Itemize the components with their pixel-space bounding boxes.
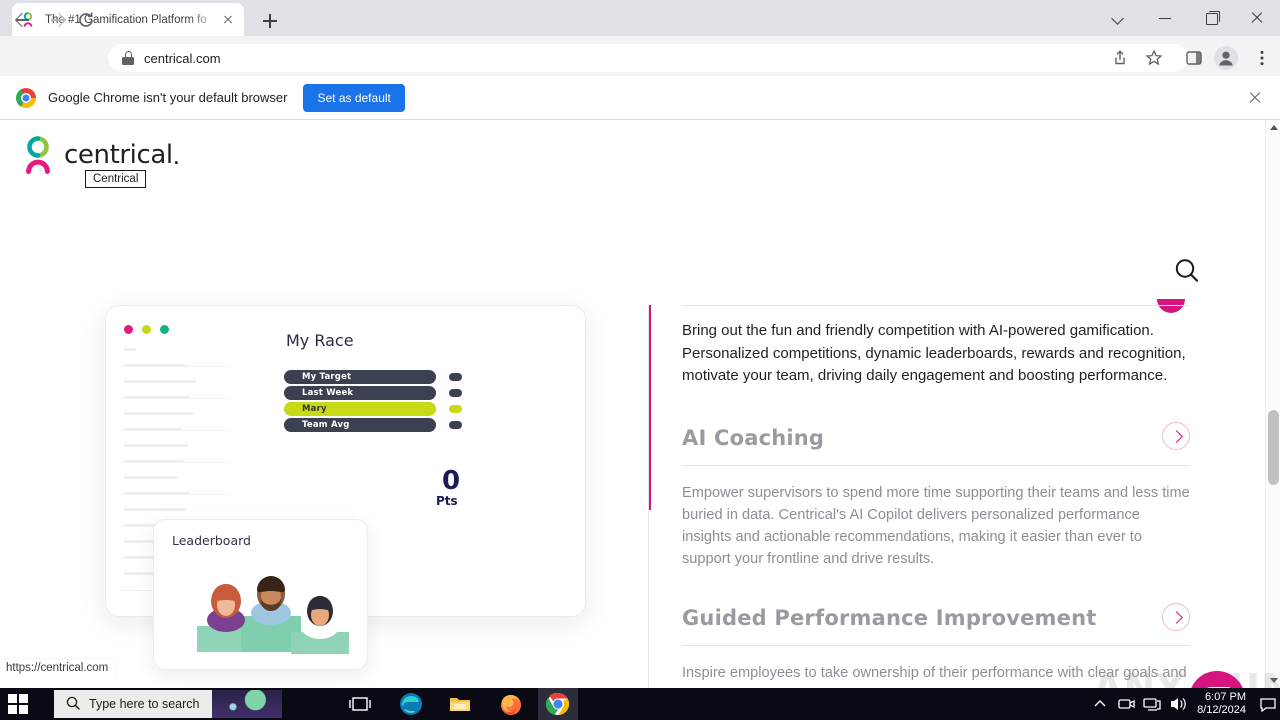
chrome-icon[interactable] [546,692,570,716]
leaderboard-podium-illustration [179,568,369,658]
search-input[interactable]: Type here to search [54,690,282,718]
address-bar[interactable]: centrical.com [108,44,1188,72]
race-bar-label: My Target [302,372,351,382]
search-icon [66,696,80,713]
lock-icon [122,51,134,65]
tab-strip: The #1 Gamification Platform fo [0,0,1280,36]
chrome-logo-icon [16,88,36,108]
race-bar-marker [449,405,462,413]
page-scrollbar[interactable] [1265,120,1280,688]
section-title: Guided Performance Improvement [682,606,1190,630]
close-icon[interactable] [220,12,236,28]
notifications-icon[interactable] [1256,688,1280,720]
link-status-bubble: https://centrical.com [0,660,116,680]
url-text: centrical.com [144,51,221,66]
race-bar-label: Team Avg [302,420,350,430]
chevron-right-icon[interactable] [1162,422,1190,450]
camera-icon[interactable] [1113,688,1139,720]
window-controls [1096,0,1280,36]
mock-window-dots [124,325,169,334]
system-tray: 6:07 PM 8/12/2024 [1087,688,1280,720]
minimize-icon[interactable] [1142,0,1188,36]
close-window-icon[interactable] [1234,0,1280,36]
page-main: My Race My Target Last Week Mary [0,186,1265,688]
race-bar-row: My Target [284,370,444,384]
logo-text: centrical [64,140,173,170]
race-bar-row: Last Week [284,386,444,400]
section-title: AI Coaching [682,426,1190,450]
side-panel-icon[interactable] [1178,42,1210,74]
edge-icon[interactable] [399,692,423,716]
logo-dot: . [173,140,180,171]
chevron-right-icon[interactable] [1162,603,1190,631]
points-label: Pts [436,494,458,508]
share-icon[interactable] [1104,42,1136,74]
show-hidden-icons-chevron[interactable] [1087,688,1113,720]
section-body: Empower supervisors to spend more time s… [682,482,1190,570]
logo-tooltip: Centrical [85,170,146,188]
site-header: centrical . [0,120,1265,186]
menu-kebab-icon[interactable] [1246,42,1278,74]
race-bar-row: Team Avg [284,418,444,432]
firefox-icon[interactable] [499,692,523,716]
volume-icon[interactable] [1165,688,1191,720]
race-bar-row: Mary [284,402,444,416]
leaderboard-card: Leaderboard [153,519,368,670]
race-bar-marker [449,421,462,429]
anyrun-watermark: ANY RUN [1093,666,1280,688]
clock-time: 6:07 PM [1197,691,1246,704]
content-column: Bring out the fun and friendly competiti… [682,305,1190,688]
infobar-message: Google Chrome isn't your default browser [48,90,287,105]
set-as-default-button[interactable]: Set as default [303,84,404,112]
forward-button[interactable] [44,6,72,34]
task-view-icon[interactable] [348,692,372,716]
scroll-up-arrow[interactable] [1270,125,1278,130]
race-bar-marker [449,389,462,397]
centrical-logo[interactable]: centrical . [20,136,180,174]
maximize-icon[interactable] [1188,0,1234,36]
taskbar-clock[interactable]: 6:07 PM 8/12/2024 [1197,691,1246,717]
file-explorer-icon[interactable] [448,692,472,716]
default-browser-infobar: Google Chrome isn't your default browser… [0,76,1280,120]
search-placeholder: Type here to search [89,697,199,711]
search-icon[interactable] [1172,256,1202,286]
window-dot [160,325,169,334]
my-race-title: My Race [286,331,354,350]
scrollbar-thumb[interactable] [1268,410,1279,485]
new-tab-button[interactable] [258,9,282,33]
race-bar-marker [449,373,462,381]
search-illustration [212,690,282,718]
profile-icon[interactable] [1210,42,1242,74]
race-bar-label: Mary [302,404,327,414]
chevron-down-icon[interactable] [1096,0,1142,36]
page-viewport: centrical . Request a Demo See a Preview… [0,120,1280,688]
lede-paragraph: Bring out the fun and friendly competiti… [682,306,1190,388]
race-bar-label: Last Week [302,388,353,398]
centrical-logo-icon [20,136,56,174]
window-dot [124,325,133,334]
race-bars: My Target Last Week Mary Team Avg [284,370,444,434]
close-icon[interactable] [1248,91,1262,105]
section-ai-coaching: AI Coaching Empower supervisors to spend… [682,426,1190,570]
section-rail [648,305,649,688]
reload-icon[interactable] [72,6,100,34]
points-value: 0 [442,466,460,496]
network-icon[interactable] [1139,688,1165,720]
leaderboard-title: Leaderboard [172,533,251,548]
back-button[interactable] [8,6,36,34]
window-dot [142,325,151,334]
browser-window: The #1 Gamification Platform fo centrica… [0,0,1280,688]
windows-taskbar: Type here to search [0,688,1280,720]
windows-start-icon[interactable] [8,694,28,714]
clock-date: 8/12/2024 [1197,704,1246,717]
bookmark-star-icon[interactable] [1138,42,1170,74]
